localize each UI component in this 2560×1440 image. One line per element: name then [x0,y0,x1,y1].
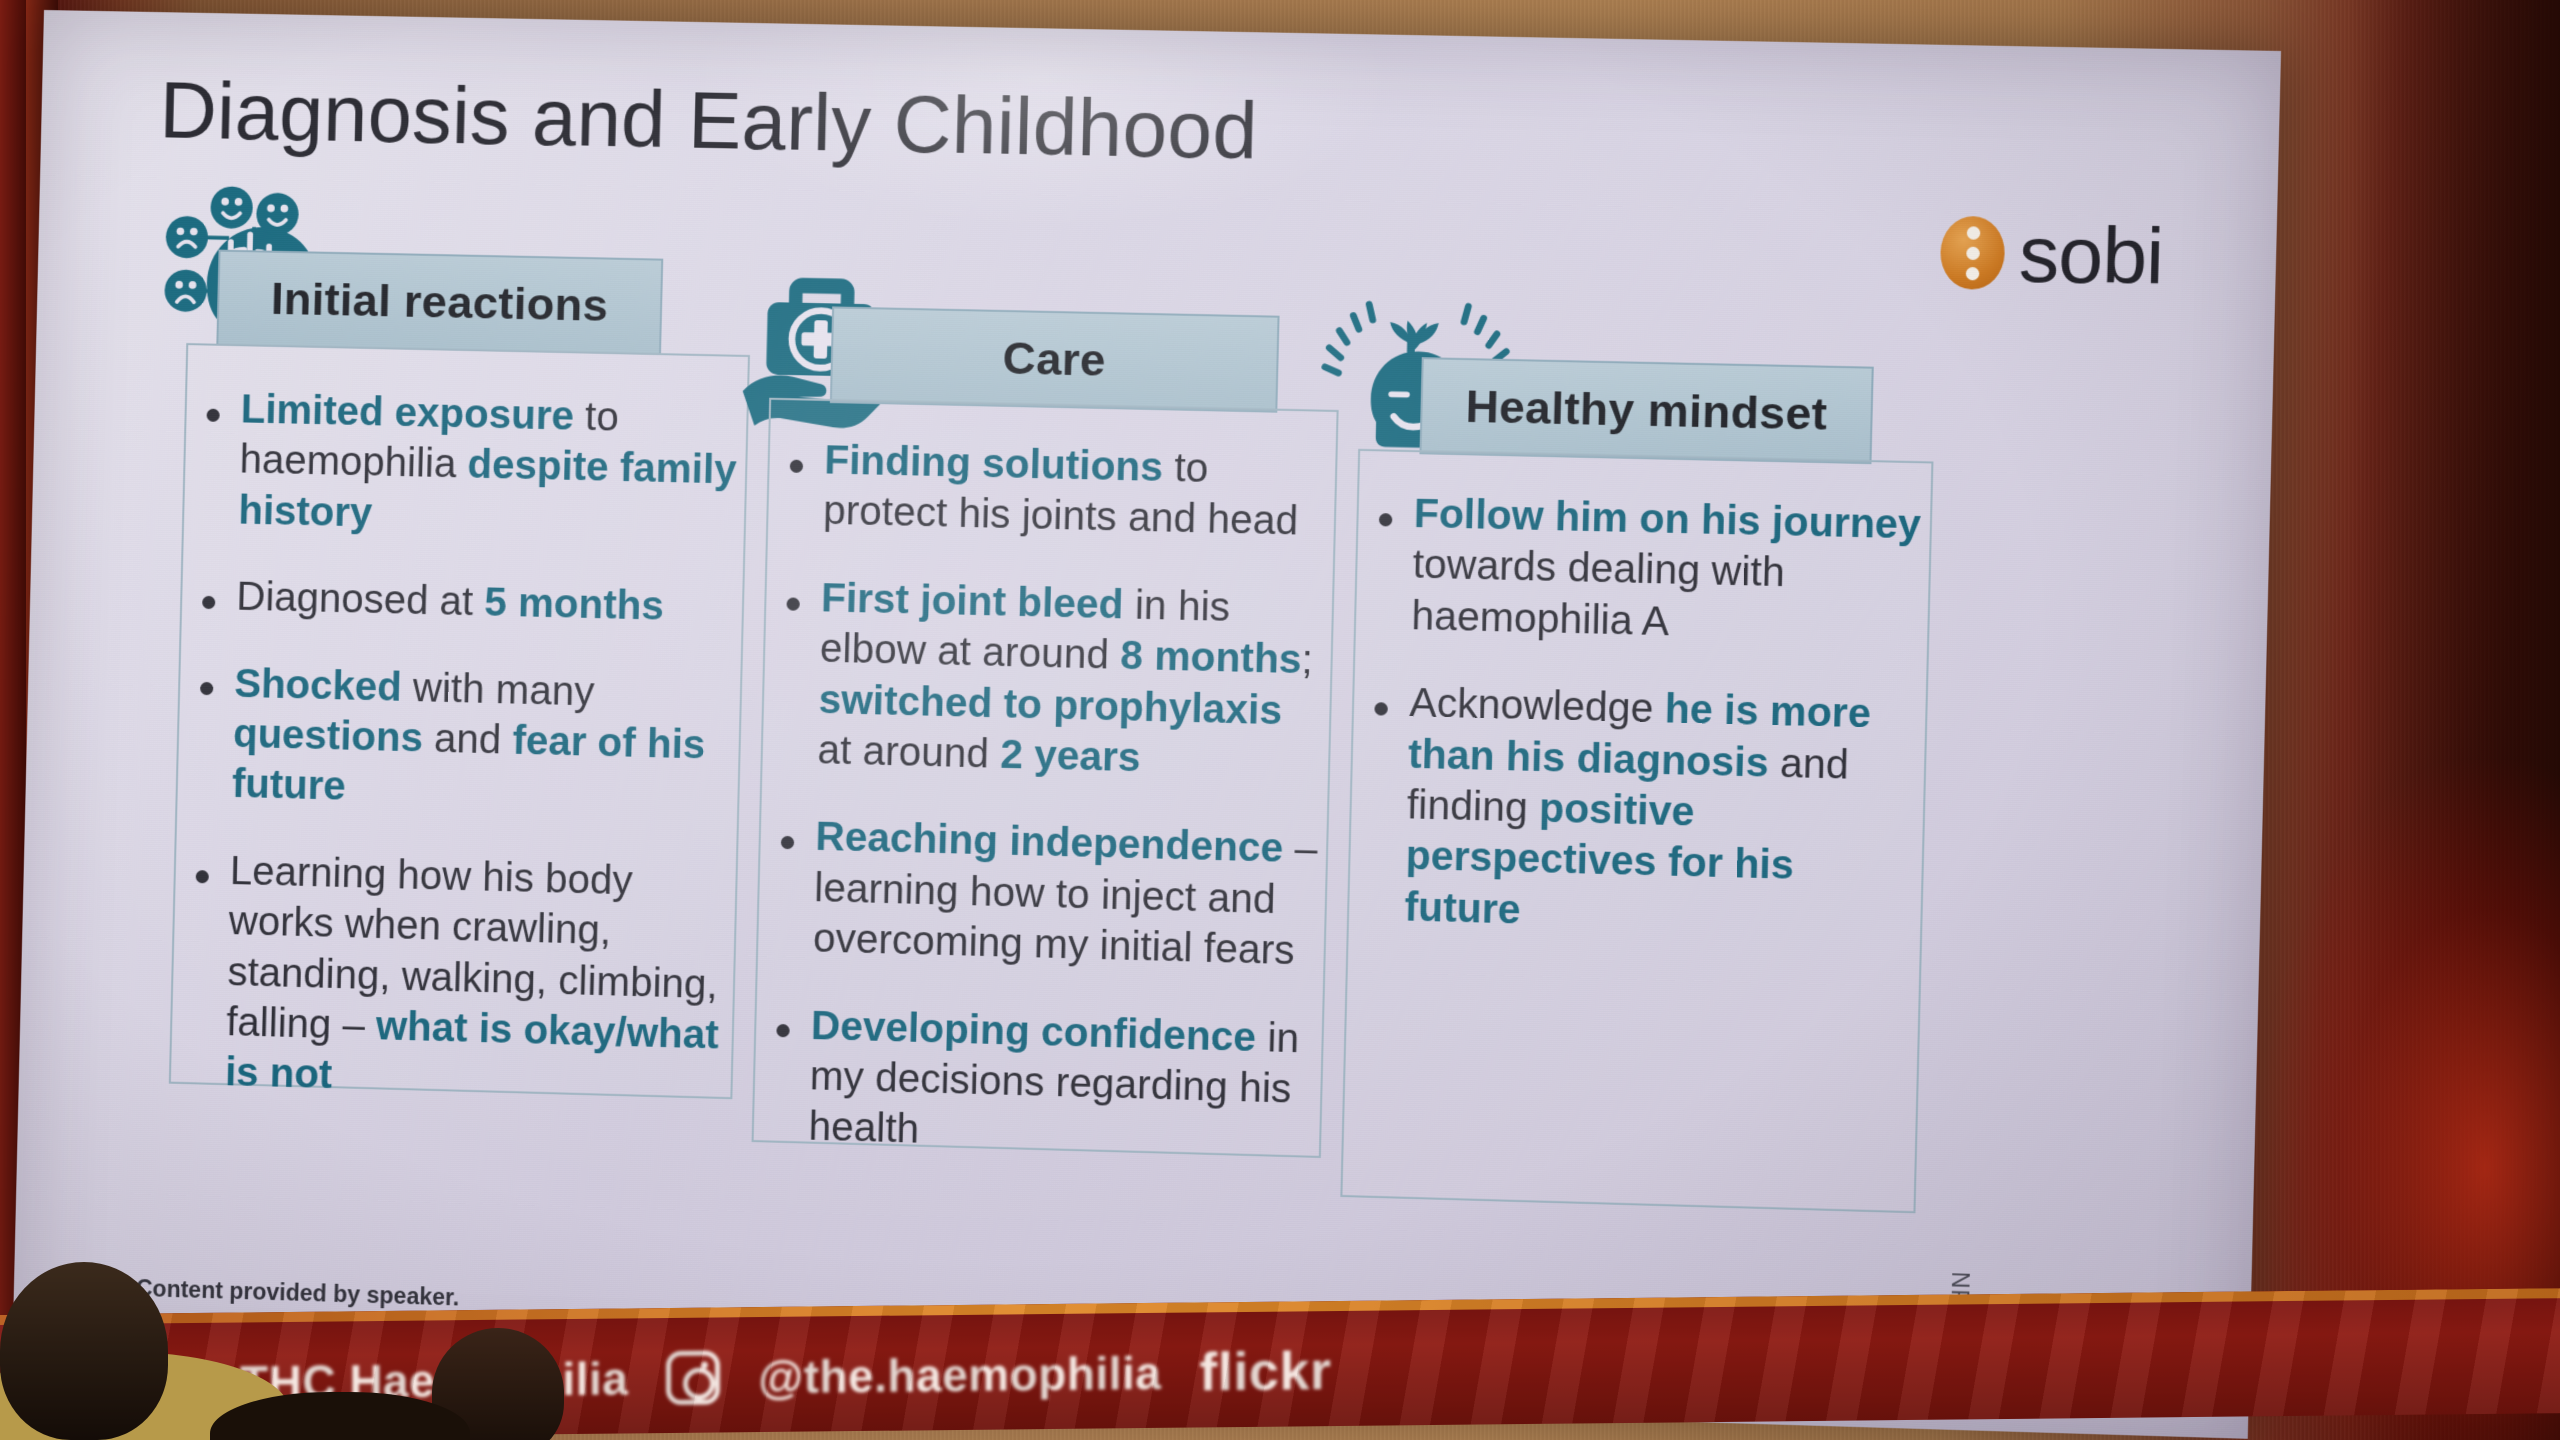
list-item: Finding solutions to protect his joints … [776,434,1333,548]
column-heading-initial-reactions: Initial reactions [216,250,663,356]
logo-dot [1966,246,1980,259]
column-heading-healthy-mindset: Healthy mindset [1419,357,1873,464]
list-item: Reaching independence – learning how to … [766,811,1324,978]
presentation-slide: Diagnosis and Early Childhood sobi [12,10,2281,1439]
column-heading-care: Care [830,306,1280,412]
sobi-logo-mark-icon [1940,216,2006,290]
conference-room-scene: Diagnosis and Early Childhood sobi [0,0,2560,1440]
list-item: First joint bleed in his elbow at around… [770,572,1329,789]
list-item: Limited exposure to haemophilia despite … [192,383,739,547]
logo-dot [1965,266,1979,279]
bullet-list-healthy-mindset: Follow him on his journey towards dealin… [1356,488,1927,983]
bullet-list-care: Finding solutions to protect his joints … [761,434,1333,1203]
list-item: Learning how his body works when crawlin… [179,844,728,1111]
audience-person-head [0,1262,168,1440]
sobi-logo: sobi [1940,216,2164,294]
list-item: Diagnosed at 5 months [190,571,735,634]
sobi-wordmark: sobi [2018,218,2164,292]
list-item: Follow him on his journey towards dealin… [1364,488,1928,654]
list-item: Acknowledge he is more than his diagnosi… [1357,677,1923,946]
logo-dot [1966,226,1980,239]
list-item: Shocked with many questions and fear of … [185,657,732,822]
bullet-list-initial-reactions: Limited exposure to haemophilia despite … [178,383,739,1148]
list-item: Developing confidence in my decisions re… [761,999,1319,1167]
